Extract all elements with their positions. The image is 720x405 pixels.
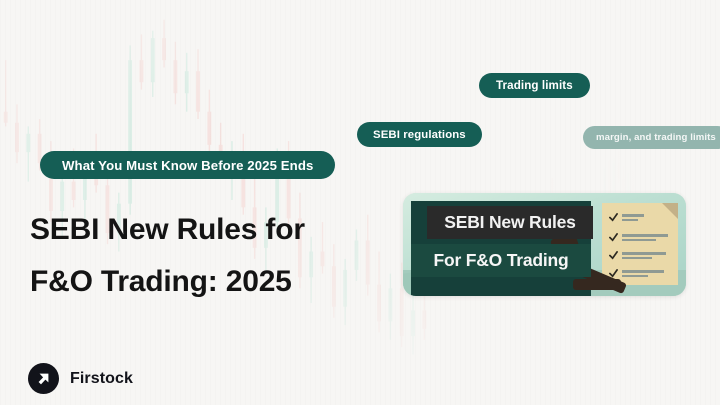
badge-sebi-regulations[interactable]: SEBI regulations [357, 122, 482, 147]
thumbnail-band-top-label: SEBI New Rules [444, 212, 575, 233]
gavel-sound-block-icon [573, 279, 621, 290]
checklist-line-group [622, 214, 644, 220]
article-thumbnail-card[interactable]: SEBI New Rules For F&O Trading [403, 193, 686, 296]
checklist-icon [602, 203, 678, 285]
candlestick-chart-watermark [0, 0, 430, 394]
thumbnail-band-bottom: For F&O Trading [411, 244, 591, 277]
check-icon [609, 233, 618, 242]
brand-name: Firstock [70, 370, 133, 388]
page-title-line-2: F&O Trading: 2025 [30, 256, 400, 308]
checklist-fold-corner [662, 203, 678, 219]
badge-what-you-must-know-label: What You Must Know Before 2025 Ends [62, 158, 313, 173]
brand-logo[interactable]: Firstock [28, 363, 133, 394]
firstock-arrow-glyph [36, 371, 52, 387]
checklist-line-group [622, 252, 666, 258]
badge-sebi-regulations-label: SEBI regulations [373, 129, 466, 141]
badge-trading-limits[interactable]: Trading limits [479, 73, 590, 98]
checklist-line-group [622, 234, 668, 240]
firstock-arrow-icon [28, 363, 59, 394]
badge-margin-trading-limits-label: margin, and trading limits [596, 132, 716, 143]
check-icon [609, 251, 618, 260]
poster-canvas: Trading limits SEBI regulations margin, … [0, 0, 720, 405]
check-icon [609, 213, 618, 222]
badge-what-you-must-know[interactable]: What You Must Know Before 2025 Ends [40, 151, 335, 179]
thumbnail-band-top: SEBI New Rules [427, 206, 593, 239]
badge-trading-limits-label: Trading limits [496, 79, 573, 92]
page-title: SEBI New Rules for F&O Trading: 2025 [30, 204, 400, 308]
thumbnail-band-bottom-label: For F&O Trading [433, 250, 568, 271]
checklist-line-group [622, 270, 664, 276]
badge-margin-trading-limits[interactable]: margin, and trading limits [583, 126, 720, 149]
page-title-line-1: SEBI New Rules for [30, 204, 400, 256]
